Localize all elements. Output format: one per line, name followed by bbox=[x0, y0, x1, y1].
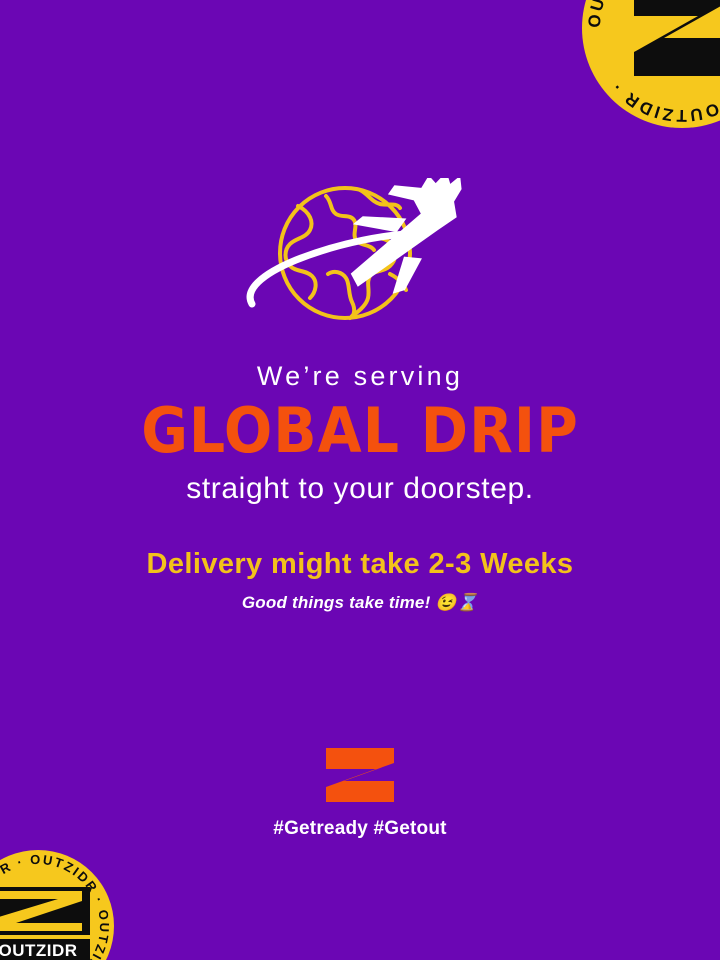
brand-z-logo-icon bbox=[322, 746, 398, 804]
hashtags-text: #Getready #Getout bbox=[0, 818, 720, 840]
badge-core-bottom-left: OUTZIDR bbox=[0, 887, 90, 960]
headline-block: We’re serving GLOBAL DRIP straight to yo… bbox=[0, 362, 720, 505]
subhead-text: straight to your doorstep. bbox=[0, 472, 720, 505]
reassurance-text: Good things take time! 😉⌛ bbox=[0, 593, 720, 613]
brand-badge-top-right: OUTZIDR · OUTZIDR · OUTZIDR · OUTZIDR · bbox=[582, 0, 720, 128]
page-title: GLOBAL DRIP bbox=[0, 400, 720, 462]
delivery-info-block: Delivery might take 2-3 Weeks Good thing… bbox=[0, 548, 720, 614]
delivery-estimate-text: Delivery might take 2-3 Weeks bbox=[0, 548, 720, 581]
eyebrow-text: We’re serving bbox=[0, 362, 720, 392]
badge-z-mark-top-right bbox=[628, 0, 720, 80]
brand-badge-bottom-left: OUTZIDR · OUTZIDR · OUTZIDR · OUTZIDR · … bbox=[0, 850, 114, 960]
globe-airplane-illustration bbox=[240, 178, 480, 338]
badge-wordmark-bottom-left: OUTZIDR bbox=[0, 941, 78, 960]
footer-logo-block: #Getready #Getout bbox=[0, 746, 720, 840]
promo-poster: We’re serving GLOBAL DRIP straight to yo… bbox=[0, 0, 720, 960]
